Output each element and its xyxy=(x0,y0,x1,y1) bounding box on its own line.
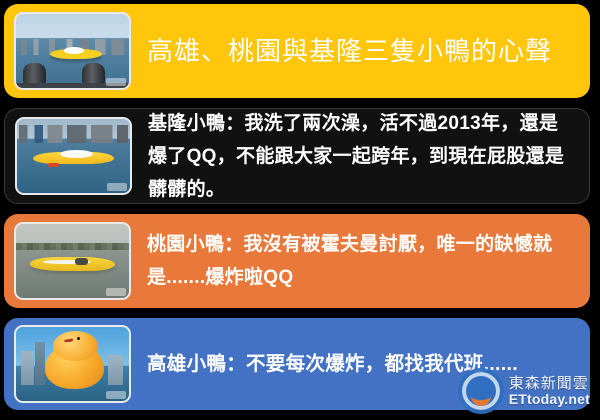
panel-keelung: 基隆小鴨：我洗了兩次澡，活不過2013年，還是爆了QQ，不能跟大家一起跨年，到現… xyxy=(4,108,590,204)
duck-beak-shape xyxy=(48,163,59,167)
infographic-canvas: 高雄、桃園與基隆三隻小鴨的心聲 基隆小鴨：我洗了兩次澡，活不過2013年，還是爆… xyxy=(0,0,600,420)
bollard-shape-left xyxy=(23,63,47,85)
quote-block-taoyuan: 桃園小鴨：我沒有被霍夫曼討厭，唯一的缺憾就是.......爆炸啦QQ xyxy=(131,228,590,294)
page-title: 高雄、桃園與基隆三隻小鴨的心聲 xyxy=(147,34,576,68)
quote-block-kaohsiung: 高雄小鴨：不要每次爆炸，都找我代班...... xyxy=(131,348,590,381)
cityscape-shape xyxy=(19,125,127,143)
skyscraper-shape-a xyxy=(21,351,35,385)
thumbnail-keelung-harbour xyxy=(14,12,131,90)
panel-kaohsiung: 高雄小鴨：不要每次爆炸，都找我代班...... xyxy=(4,318,590,410)
bollard-shape-right xyxy=(82,63,106,85)
quote-text-taoyuan: 桃園小鴨：我沒有被霍夫曼討厭，唯一的缺憾就是.......爆炸啦QQ xyxy=(147,228,576,294)
duck-beak-shape xyxy=(64,339,73,343)
duck-debris-shape xyxy=(75,258,89,265)
deflated-duck-shape xyxy=(50,49,102,59)
panel-taoyuan: 桃園小鴨：我沒有被霍夫曼討厭，唯一的缺憾就是.......爆炸啦QQ xyxy=(4,214,590,308)
duck-eye-shape xyxy=(77,337,80,340)
thumbnail-kaohsiung-duck xyxy=(14,325,131,403)
skyscraper-shape-c xyxy=(108,355,124,385)
deflated-duck-shape xyxy=(30,257,116,272)
title-block: 高雄、桃園與基隆三隻小鴨的心聲 xyxy=(131,34,590,68)
deflated-duck-shape xyxy=(33,152,114,165)
photo-watermark-badge xyxy=(107,183,127,191)
quote-block-keelung: 基隆小鴨：我洗了兩次澡，活不過2013年，還是爆了QQ，不能跟大家一起跨年，到現… xyxy=(132,108,589,204)
thumbnail-taoyuan-duck xyxy=(14,222,131,300)
quote-text-kaohsiung: 高雄小鴨：不要每次爆炸，都找我代班...... xyxy=(147,348,576,381)
thumbnail-keelung-duck xyxy=(15,117,132,195)
photo-watermark-badge xyxy=(106,391,126,399)
photo-watermark-badge xyxy=(106,78,126,86)
skyscraper-shape-b xyxy=(35,342,45,385)
quote-text-keelung: 基隆小鴨：我洗了兩次澡，活不過2013年，還是爆了QQ，不能跟大家一起跨年，到現… xyxy=(148,108,575,204)
photo-watermark-badge xyxy=(106,288,126,296)
panel-title: 高雄、桃園與基隆三隻小鴨的心聲 xyxy=(4,4,590,98)
treeline-shape xyxy=(16,243,129,250)
